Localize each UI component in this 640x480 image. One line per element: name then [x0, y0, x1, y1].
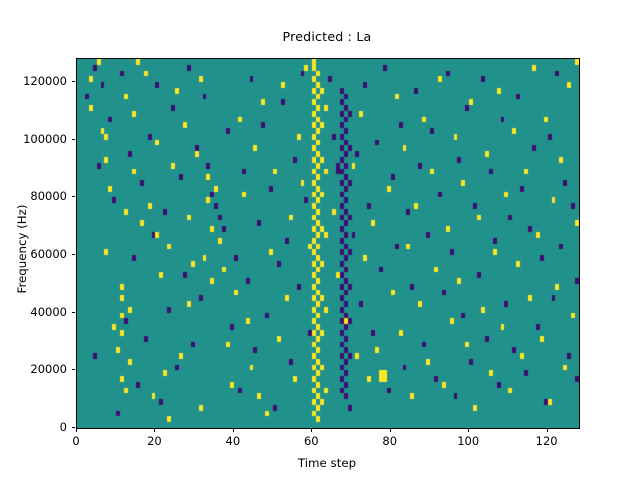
x-tick-mark	[468, 428, 469, 432]
x-axis-label: Time step	[7, 456, 640, 470]
y-axis-label: Frequency (Hz)	[15, 149, 29, 349]
x-tick-label: 100	[457, 434, 479, 448]
x-tick-label: 0	[72, 434, 79, 448]
y-tick-mark	[72, 254, 76, 255]
y-tick-label: 0	[0, 420, 67, 434]
x-tick-mark	[311, 428, 312, 432]
matplotlib-figure: Predicted : La 020406080100120 020000400…	[0, 0, 640, 480]
y-tick-label: 120000	[0, 74, 67, 88]
heatmap-canvas	[77, 59, 579, 428]
x-tick-mark	[154, 428, 155, 432]
y-tick-label: 60000	[0, 247, 67, 261]
x-tick-label: 60	[304, 434, 319, 448]
page-title: Predicted : La	[7, 29, 640, 44]
y-tick-label: 80000	[0, 189, 67, 203]
x-tick-mark	[390, 428, 391, 432]
y-tick-mark	[72, 369, 76, 370]
x-tick-label: 20	[147, 434, 162, 448]
x-tick-mark	[233, 428, 234, 432]
y-tick-label: 20000	[0, 362, 67, 376]
y-tick-label: 40000	[0, 305, 67, 319]
x-tick-label: 120	[536, 434, 558, 448]
x-tick-mark	[547, 428, 548, 432]
y-tick-mark	[72, 427, 76, 428]
heatmap-axes	[76, 58, 580, 429]
y-tick-label: 100000	[0, 132, 67, 146]
x-tick-label: 80	[382, 434, 397, 448]
x-tick-mark	[76, 428, 77, 432]
y-tick-mark	[72, 312, 76, 313]
y-tick-mark	[72, 196, 76, 197]
y-tick-mark	[72, 81, 76, 82]
y-tick-mark	[72, 139, 76, 140]
x-tick-label: 40	[226, 434, 241, 448]
